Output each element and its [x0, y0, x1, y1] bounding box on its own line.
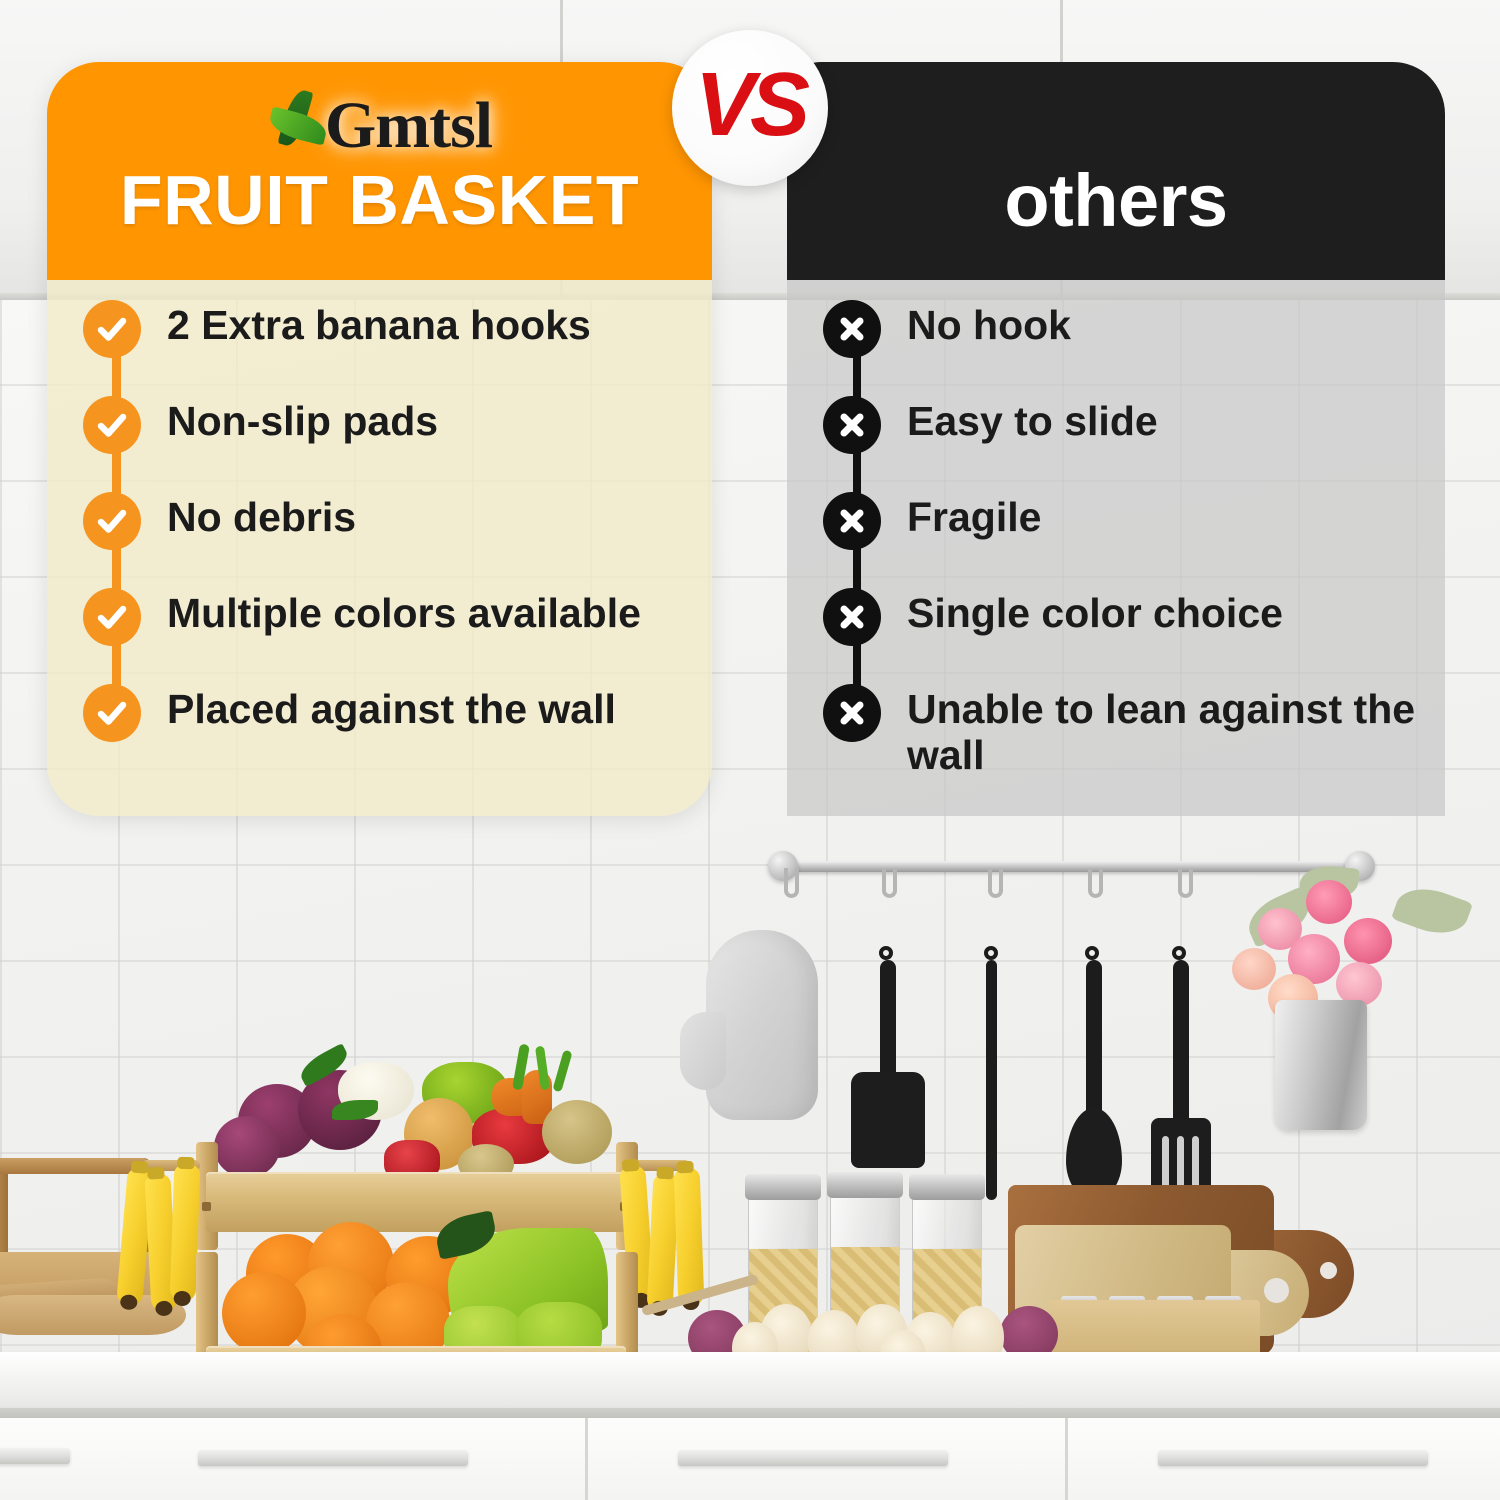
- check-icon: [83, 300, 141, 358]
- others-feature-list: No hook Easy to slide Fragile: [787, 298, 1445, 779]
- list-item: No debris: [47, 490, 712, 586]
- comparison-overlay: Gmtsl FRUIT BASKET 2 Extra banana hooks …: [0, 0, 1500, 1500]
- leaf-icon: [267, 93, 335, 159]
- check-icon: [83, 588, 141, 646]
- list-item: Placed against the wall: [47, 682, 712, 778]
- list-item-label: Fragile: [907, 490, 1041, 541]
- product-panel: Gmtsl FRUIT BASKET 2 Extra banana hooks …: [47, 62, 712, 816]
- cross-icon: [823, 588, 881, 646]
- check-icon: [83, 396, 141, 454]
- list-item: Single color choice: [787, 586, 1445, 682]
- check-icon: [83, 684, 141, 742]
- check-icon: [83, 492, 141, 550]
- list-item: Fragile: [787, 490, 1445, 586]
- product-feature-list: 2 Extra banana hooks Non-slip pads No de…: [47, 298, 712, 778]
- list-item-label: 2 Extra banana hooks: [167, 298, 591, 349]
- vs-label: VS: [695, 60, 805, 150]
- vs-badge: VS: [672, 30, 828, 186]
- list-item: 2 Extra banana hooks: [47, 298, 712, 394]
- list-item-label: No debris: [167, 490, 356, 541]
- brand-logo: Gmtsl: [47, 86, 712, 166]
- list-item: Multiple colors available: [47, 586, 712, 682]
- list-item-label: No hook: [907, 298, 1071, 349]
- list-item: Easy to slide: [787, 394, 1445, 490]
- list-item-label: Placed against the wall: [167, 682, 616, 733]
- product-panel-title: FRUIT BASKET: [47, 160, 712, 240]
- list-item: Non-slip pads: [47, 394, 712, 490]
- brand-name: Gmtsl: [325, 93, 492, 159]
- list-item-label: Easy to slide: [907, 394, 1158, 445]
- others-panel-title: others: [787, 158, 1445, 243]
- cross-icon: [823, 684, 881, 742]
- list-item: No hook: [787, 298, 1445, 394]
- list-item-label: Single color choice: [907, 586, 1283, 637]
- cross-icon: [823, 300, 881, 358]
- list-item-label: Unable to lean against the wall: [907, 682, 1437, 779]
- others-panel-header: others: [787, 62, 1445, 280]
- others-panel: others No hook Easy to slide: [787, 62, 1445, 816]
- list-item-label: Multiple colors available: [167, 586, 641, 637]
- leaf-shape-lower: [267, 106, 330, 145]
- product-panel-header: Gmtsl FRUIT BASKET: [47, 62, 712, 280]
- list-item-label: Non-slip pads: [167, 394, 438, 445]
- cross-icon: [823, 396, 881, 454]
- cross-icon: [823, 492, 881, 550]
- list-item: Unable to lean against the wall: [787, 682, 1445, 779]
